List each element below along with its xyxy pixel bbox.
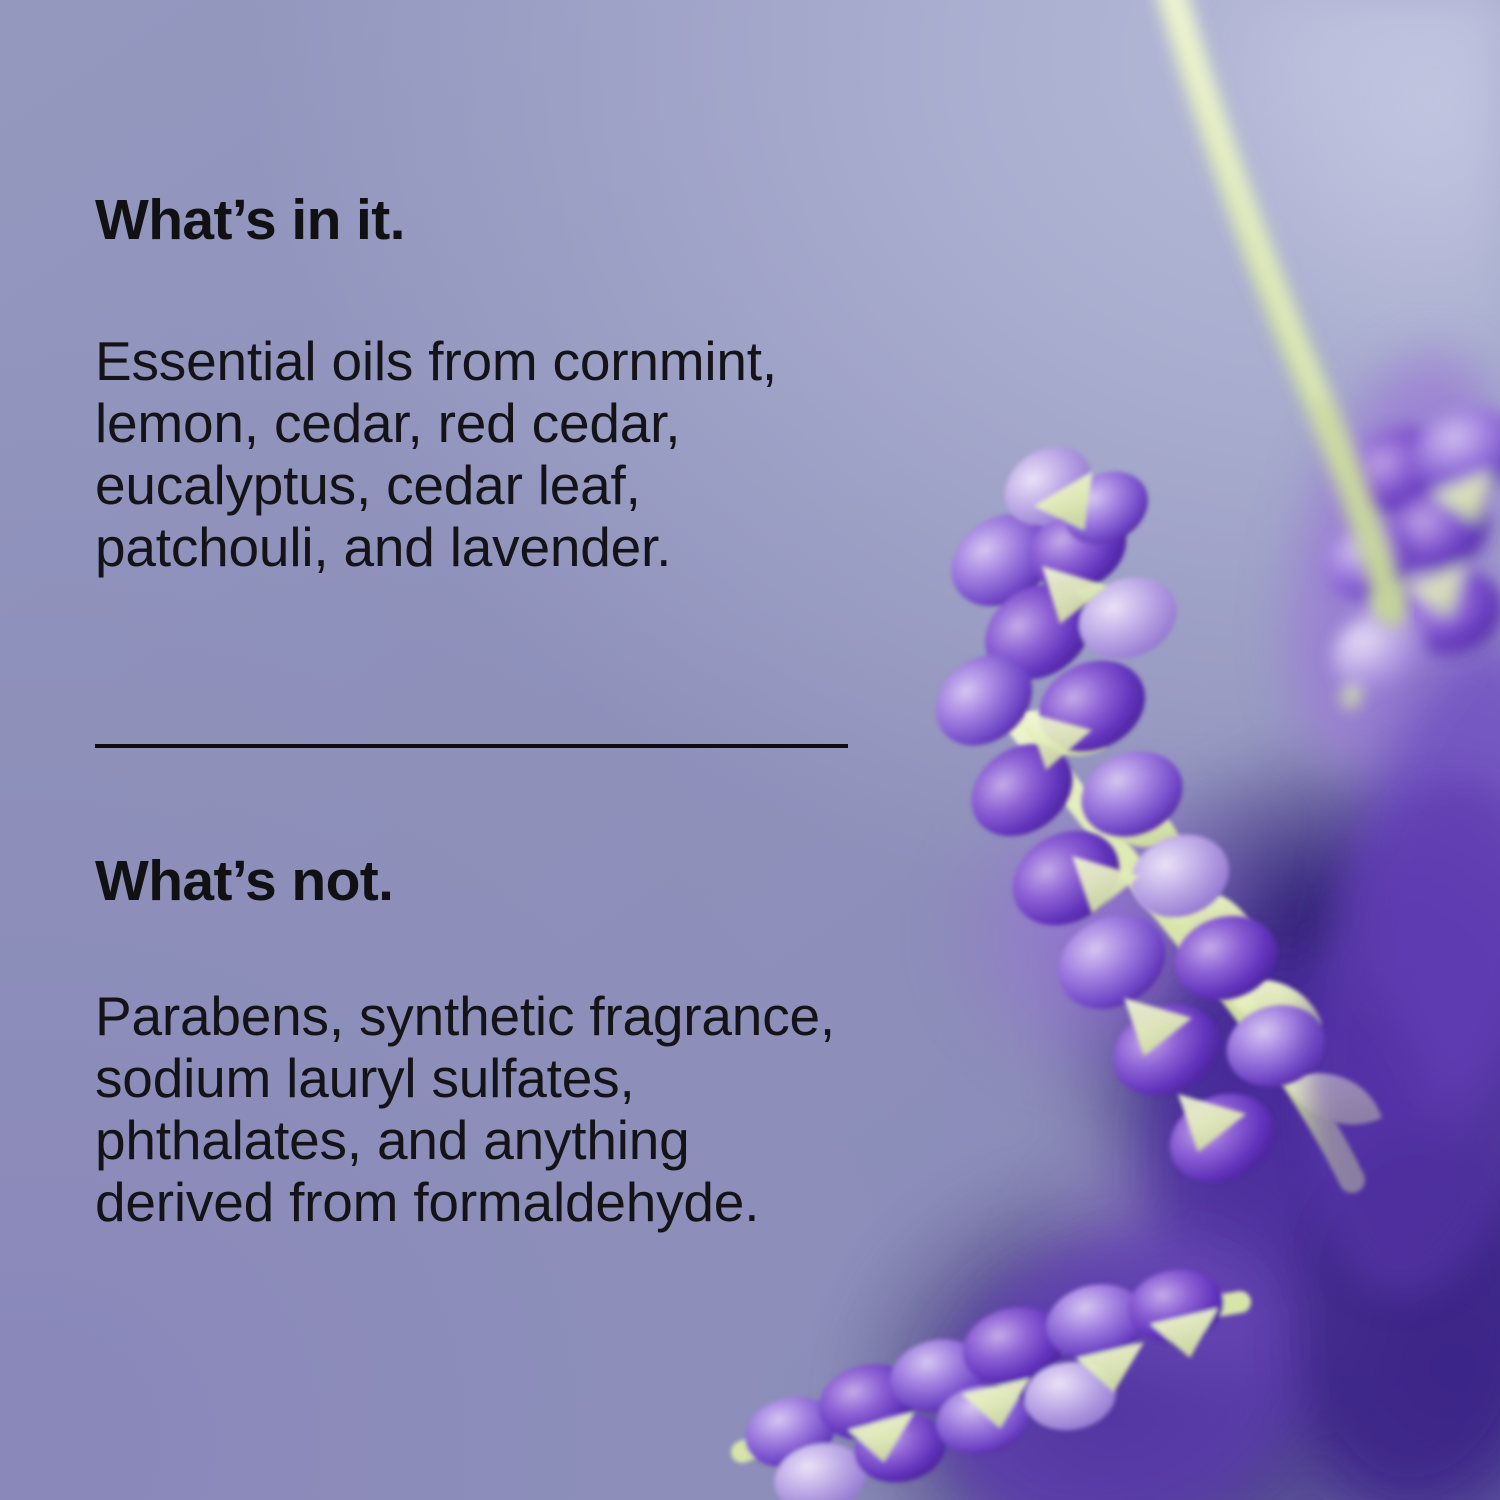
whats-in-it-body: Essential oils from cornmint, lemon, ced…	[95, 330, 777, 578]
whats-in-it-heading: What’s in it.	[95, 192, 405, 249]
copy-block: What’s in it. Essential oils from cornmi…	[95, 0, 1055, 1500]
product-detail-image: What’s in it. Essential oils from cornmi…	[0, 0, 1500, 1500]
whats-not-body: Parabens, synthetic fragrance, sodium la…	[95, 985, 835, 1233]
section-divider	[95, 744, 848, 748]
whats-not-heading: What’s not.	[95, 853, 393, 910]
